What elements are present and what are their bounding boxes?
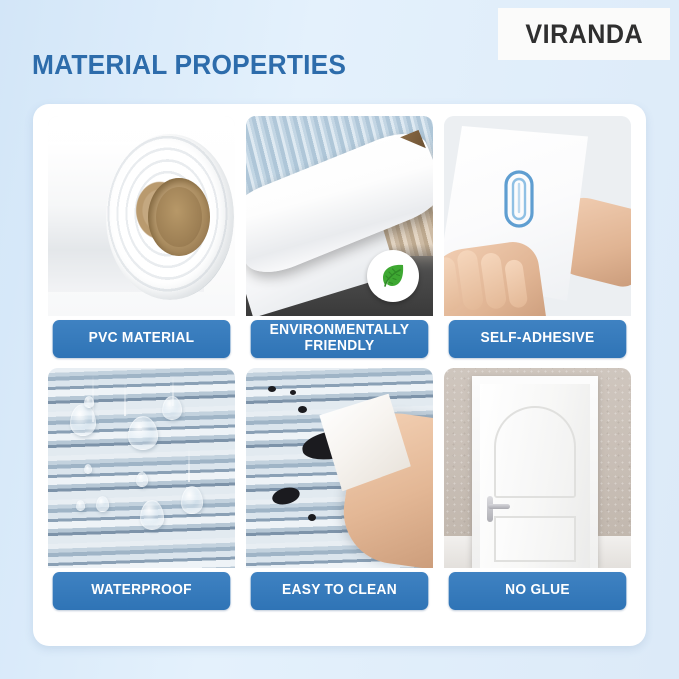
brand-name: VIRANDA: [525, 19, 643, 50]
page-title: MATERIAL PROPERTIES: [32, 49, 346, 81]
finger: [480, 252, 508, 310]
feature-label-self-adhesive: SELF-ADHESIVE: [449, 320, 627, 358]
water-droplet: [96, 496, 109, 512]
door-frame: [472, 376, 598, 568]
water-droplet: [76, 500, 85, 511]
water-droplet: [140, 500, 164, 530]
stain-mark: [268, 386, 276, 392]
room-scene: [444, 368, 631, 568]
leaf-icon: [376, 259, 410, 293]
feature-label-waterproof: WATERPROOF: [53, 572, 231, 610]
feature-tile-environmentally-friendly[interactable]: ENVIRONMENTALLY FRIENDLY: [246, 116, 433, 358]
feature-tile-self-adhesive[interactable]: SELF-ADHESIVE: [444, 116, 631, 358]
feature-label-pvc-material: PVC MATERIAL: [53, 320, 231, 358]
water-droplet: [162, 396, 182, 420]
door: [480, 384, 590, 568]
eco-leaf-badge: [367, 250, 419, 302]
finger: [456, 249, 484, 311]
easy-to-clean-image: [246, 368, 433, 568]
pvc-roll-core-inner: [156, 187, 202, 247]
waterproof-image: [48, 368, 235, 568]
door-panel-bottom: [494, 516, 576, 562]
feature-tile-pvc-material[interactable]: PVC MATERIAL: [48, 116, 235, 358]
left-hand: [444, 239, 548, 316]
feature-label-environmentally-friendly: ENVIRONMENTALLY FRIENDLY: [251, 320, 429, 358]
brand-logo: VIRANDA: [498, 8, 670, 60]
feature-label-easy-to-clean: EASY TO CLEAN: [251, 572, 429, 610]
water-droplet: [136, 472, 148, 487]
pvc-roll-core: [148, 178, 210, 256]
stain-mark: [298, 406, 307, 413]
self-adhesive-image: [444, 116, 631, 316]
finger: [504, 259, 529, 309]
water-trail: [188, 446, 190, 482]
door-panel-top: [494, 406, 576, 498]
feature-tile-easy-to-clean[interactable]: EASY TO CLEAN: [246, 368, 433, 610]
no-glue-image: [444, 368, 631, 568]
water-droplet: [128, 416, 158, 450]
water-droplet: [84, 396, 94, 408]
water-droplet: [70, 404, 96, 436]
paperclip-icon: [502, 168, 536, 235]
features-card: PVC MATERIAL: [33, 104, 646, 646]
pvc-roll-scene: [48, 116, 235, 316]
stain-mark: [308, 514, 316, 521]
feature-tile-waterproof[interactable]: WATERPROOF: [48, 368, 235, 610]
water-droplet: [181, 486, 203, 514]
door-handle: [488, 504, 510, 509]
blue-wood-texture: [48, 368, 235, 568]
pvc-roll-image: [48, 116, 235, 316]
water-trail: [124, 382, 126, 416]
feature-label-no-glue: NO GLUE: [449, 572, 627, 610]
door-handle-plate: [487, 496, 493, 522]
adhesive-scene: [444, 116, 631, 316]
eco-wallpaper-image: [246, 116, 433, 316]
features-grid: PVC MATERIAL: [48, 116, 631, 610]
feature-tile-no-glue[interactable]: NO GLUE: [444, 368, 631, 610]
stain-mark: [290, 390, 296, 395]
water-droplet: [84, 464, 92, 474]
